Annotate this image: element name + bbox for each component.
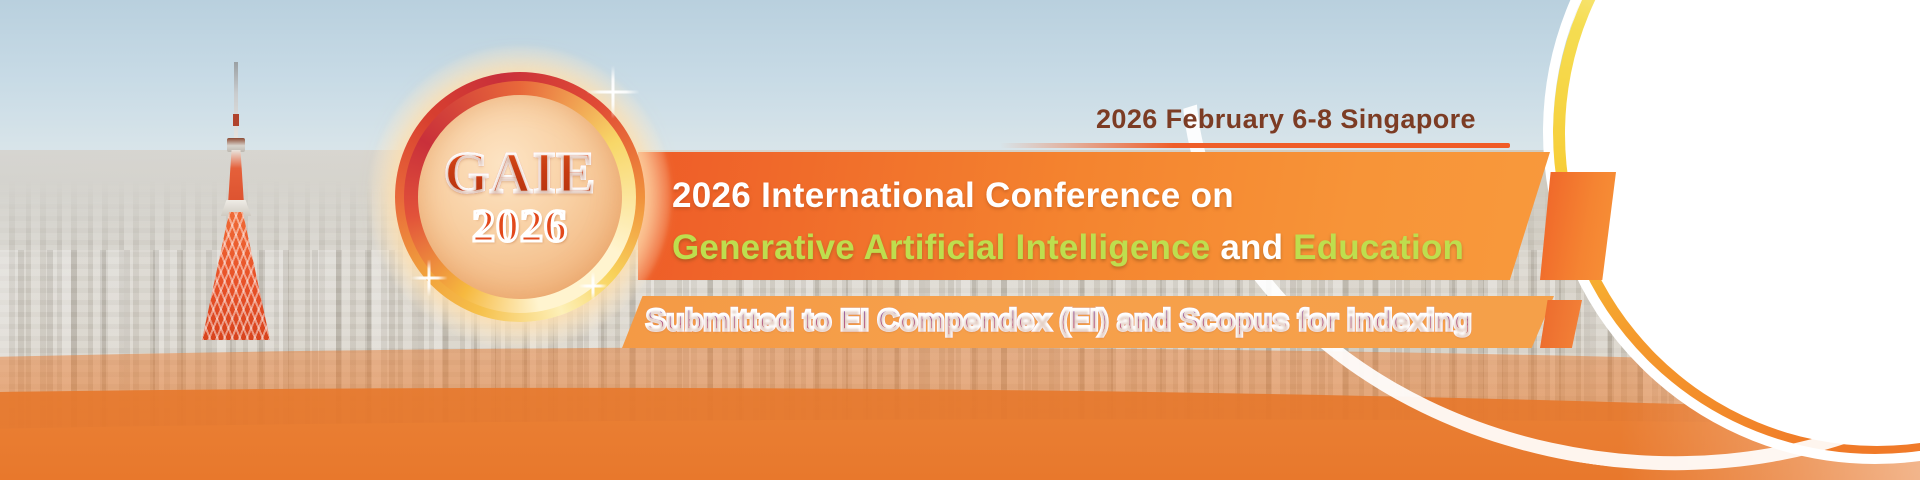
indexing-statement: Submitted to EI Compendex (EI) and Scopu…	[646, 304, 1472, 338]
logo-face: GAIE 2026	[418, 95, 622, 299]
logo-year: 2026	[472, 203, 568, 249]
conference-title-line1: 2026 International Conference on	[672, 176, 1234, 216]
tower-mast-band	[233, 114, 239, 126]
tower-upper-section	[222, 150, 250, 202]
logo-acronym: GAIE	[444, 145, 596, 200]
date-underline-rule	[1000, 143, 1510, 148]
gaie-logo: GAIE 2026	[395, 72, 645, 322]
title-topic-secondary: Education	[1283, 228, 1464, 267]
title-topic-primary: Generative Artificial Intelligence	[672, 228, 1220, 267]
conference-title-line2: Generative Artificial Intelligence and E…	[672, 228, 1464, 268]
tower-lattice-base	[202, 212, 270, 340]
conference-banner: 2026 February 6-8 Singapore 2026 Interna…	[0, 0, 1920, 480]
conference-date-location: 2026 February 6-8 Singapore	[1096, 104, 1476, 135]
tokyo-tower-icon	[196, 62, 276, 340]
tower-mast	[234, 62, 238, 140]
title-conjunction: and	[1220, 228, 1283, 267]
tower-upper-pod	[227, 138, 245, 152]
